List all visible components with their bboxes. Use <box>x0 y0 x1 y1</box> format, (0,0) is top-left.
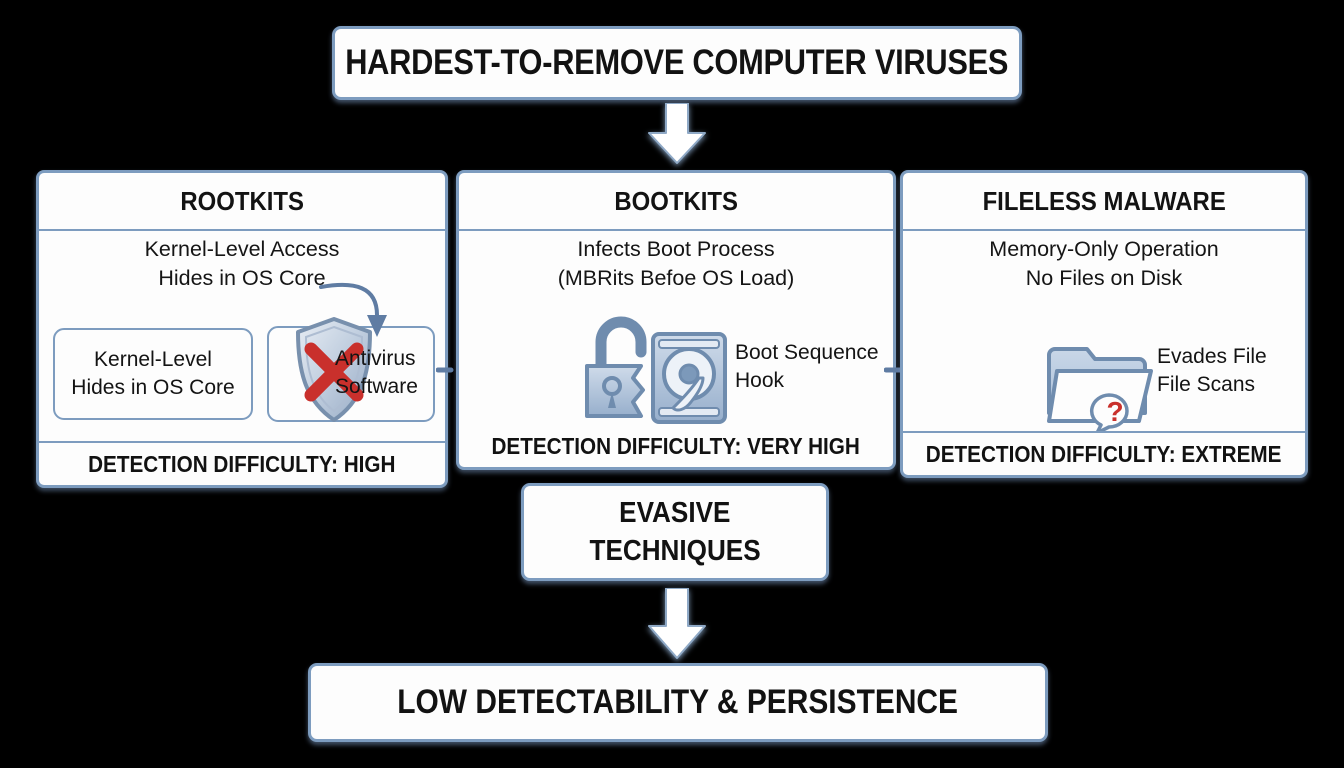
panel-rootkits-title: ROOTKITS <box>180 186 304 217</box>
rootkits-kernel-box-line-2: Hides in OS Core <box>71 374 234 402</box>
panel-fileless-title: FILELESS MALWARE <box>982 186 1225 217</box>
evasive-line-2: TECHNIQUES <box>589 532 760 570</box>
panel-rootkits-desc-line-1: Kernel-Level Access <box>47 235 437 264</box>
rootkits-kernel-box[interactable]: Kernel-Level Hides in OS Core <box>53 328 253 420</box>
panel-bootkits-footer: DETECTION DIFFICULTY: VERY HIGH <box>459 425 893 467</box>
panel-fileless-header: FILELESS MALWARE <box>903 173 1305 231</box>
fileless-icon-label: Evades File File Scans <box>1157 343 1267 399</box>
rootkits-difficulty-badge: DETECTION DIFFICULTY: HIGH <box>88 451 395 478</box>
panel-fileless-footer: DETECTION DIFFICULTY: EXTREME <box>903 431 1305 475</box>
panel-fileless-desc-line-2: No Files on Disk <box>911 264 1297 293</box>
panel-bootkits[interactable]: BOOTKITS Infects Boot Process (MBRits Be… <box>456 170 896 470</box>
padlock-harddisk-icon <box>581 316 731 431</box>
arrow-title-to-panels <box>641 103 713 165</box>
diagram-canvas: HARDEST-TO-REMOVE COMPUTER VIRUSES ROOTK… <box>0 0 1344 768</box>
folder-question-icon: ? <box>1043 341 1163 438</box>
panel-fileless-desc-line-1: Memory-Only Operation <box>911 235 1297 264</box>
outcome-text: LOW DETECTABILITY & PERSISTENCE <box>398 683 959 722</box>
rootkits-icon-label: Antivirus Software <box>335 345 418 401</box>
panel-fileless-description: Memory-Only Operation No Files on Disk <box>911 235 1297 293</box>
title-banner: HARDEST-TO-REMOVE COMPUTER VIRUSES <box>332 26 1022 100</box>
arrow-evasive-to-outcome <box>641 588 713 660</box>
evasive-techniques-node[interactable]: EVASIVE TECHNIQUES <box>521 483 829 581</box>
panel-rootkits-description: Kernel-Level Access Hides in OS Core <box>47 235 437 293</box>
panel-rootkits-desc-line-2: Hides in OS Core <box>47 264 437 293</box>
panel-bootkits-description: Infects Boot Process (MBRits Befoe OS Lo… <box>467 235 885 293</box>
rootkits-kernel-box-line-1: Kernel-Level <box>94 346 212 374</box>
svg-text:?: ? <box>1106 396 1123 427</box>
fileless-difficulty-badge: DETECTION DIFFICULTY: EXTREME <box>926 441 1282 468</box>
panel-bootkits-desc-line-1: Infects Boot Process <box>467 235 885 264</box>
panel-rootkits[interactable]: ROOTKITS Kernel-Level Access Hides in OS… <box>36 170 448 488</box>
outcome-banner: LOW DETECTABILITY & PERSISTENCE <box>308 663 1048 742</box>
panel-bootkits-desc-line-2: (MBRits Befoe OS Load) <box>467 264 885 293</box>
evasive-line-1: EVASIVE <box>619 494 730 532</box>
panel-rootkits-header: ROOTKITS <box>39 173 445 231</box>
panel-rootkits-footer: DETECTION DIFFICULTY: HIGH <box>39 441 445 485</box>
panel-fileless-malware[interactable]: FILELESS MALWARE Memory-Only Operation N… <box>900 170 1308 478</box>
page-title: HARDEST-TO-REMOVE COMPUTER VIRUSES <box>346 43 1009 83</box>
bootkits-difficulty-badge: DETECTION DIFFICULTY: VERY HIGH <box>492 433 860 460</box>
bootkits-icon-label: Boot Sequence Hook <box>735 339 879 395</box>
panel-bootkits-header: BOOTKITS <box>459 173 893 231</box>
panel-bootkits-title: BOOTKITS <box>614 186 738 217</box>
